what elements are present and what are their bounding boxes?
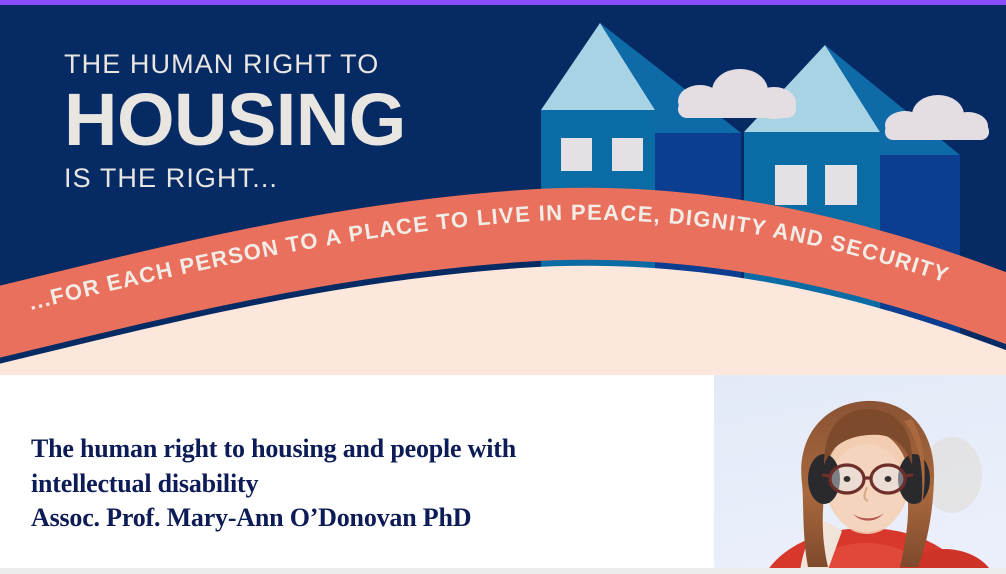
- hero-banner: THE HUMAN RIGHT TO HOUSING IS THE RIGHT.…: [0, 5, 1006, 375]
- house-left-window-1: [561, 138, 592, 171]
- headline-line-3: IS THE RIGHT...: [64, 164, 406, 194]
- headline-line-2: HOUSING: [64, 84, 406, 157]
- bottom-chrome-strip: [0, 568, 1006, 574]
- cloud-center: [678, 69, 796, 119]
- house-right-door: [804, 230, 830, 272]
- house-right-window-2: [825, 165, 857, 205]
- house-right-window-1: [775, 165, 807, 205]
- webcam-portrait: [714, 375, 1006, 568]
- webcam-eye-left: [844, 476, 851, 482]
- house-left-window-2: [612, 138, 643, 171]
- house-far-right-gap: [960, 155, 1006, 375]
- top-accent-bar: [0, 0, 1006, 5]
- slide-title-block: The human right to housing and people wi…: [31, 432, 631, 536]
- house-left-door: [592, 201, 618, 241]
- webcam-eye-right: [885, 476, 892, 482]
- slide-speaker-name: Assoc. Prof. Mary-Ann O’Donovan PhD: [31, 501, 631, 536]
- slide-title-line-2: intellectual disability: [31, 467, 631, 502]
- house-left-side-body: [655, 133, 741, 375]
- hero-headline: THE HUMAN RIGHT TO HOUSING IS THE RIGHT.…: [64, 50, 406, 194]
- speaker-webcam-feed[interactable]: [714, 375, 1006, 568]
- presentation-slide: THE HUMAN RIGHT TO HOUSING IS THE RIGHT.…: [0, 0, 1006, 574]
- slide-title-line-1: The human right to housing and people wi…: [31, 432, 631, 467]
- headline-line-1: THE HUMAN RIGHT TO: [64, 50, 406, 80]
- house-large-left: [541, 23, 741, 375]
- house-right-side-body: [880, 155, 960, 375]
- cloud-right: [885, 95, 989, 140]
